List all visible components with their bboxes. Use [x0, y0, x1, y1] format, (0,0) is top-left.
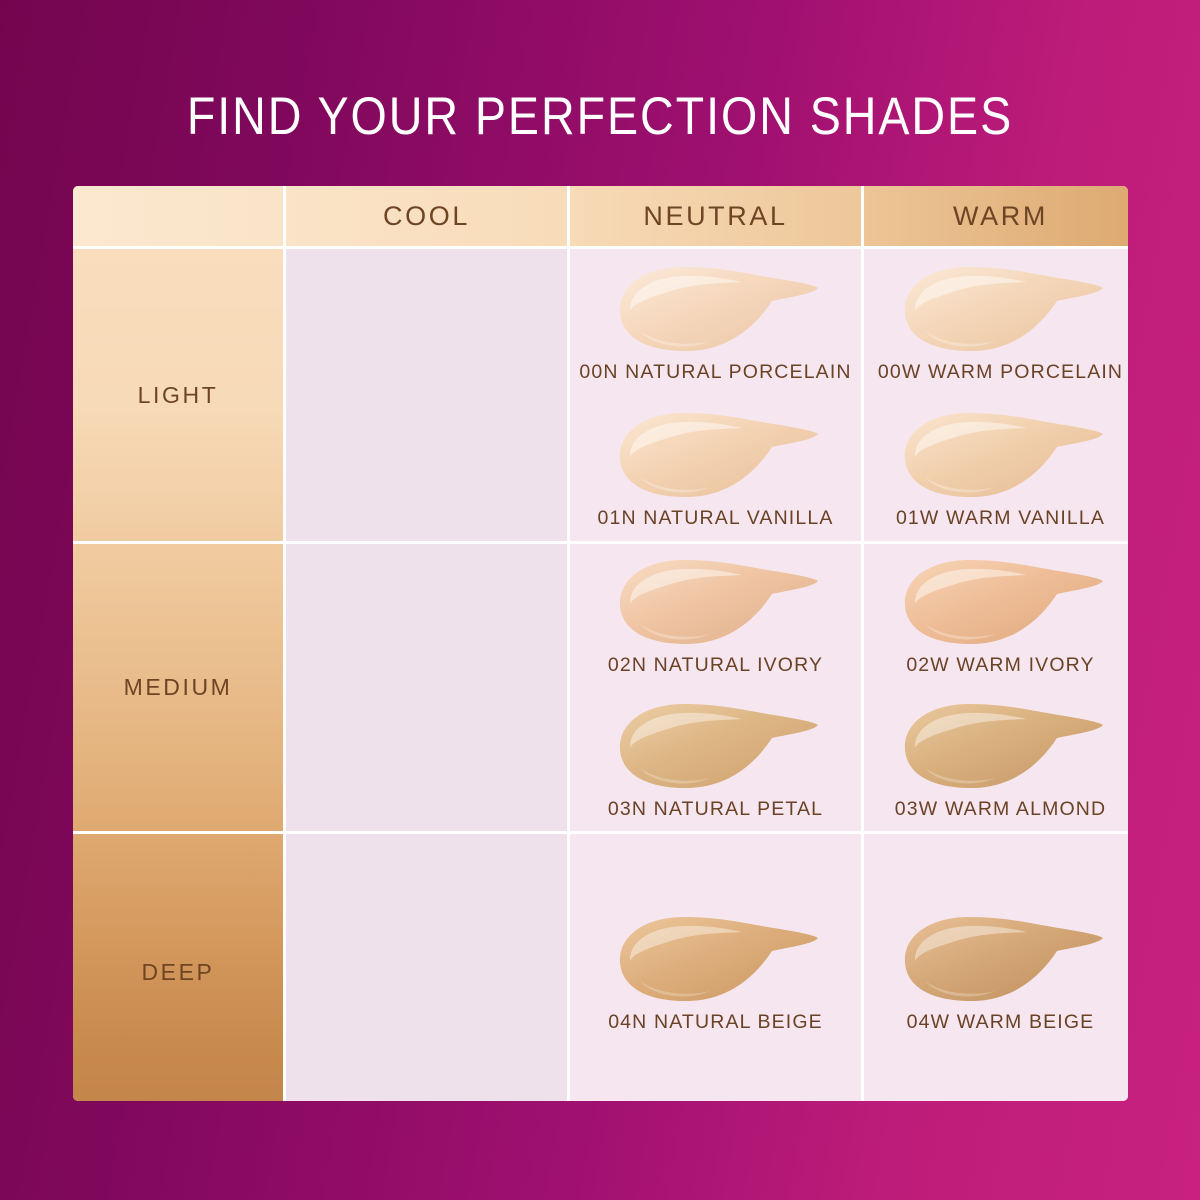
cell-light-cool — [286, 249, 567, 541]
swatch-smear-icon — [612, 554, 820, 650]
cell-medium-warm: 02W WARM IVORY 03W WARM ALMOND — [864, 544, 1128, 831]
shade-label: 03N NATURAL PETAL — [608, 798, 823, 821]
column-header-cool: COOL — [286, 186, 567, 246]
shade-label: 04N NATURAL BEIGE — [608, 1011, 823, 1034]
cell-light-neutral: 00N NATURAL PORCELAIN 01N NATURAL VANILL… — [570, 249, 861, 541]
shade-00N[interactable]: 00N NATURAL PORCELAIN — [570, 249, 861, 395]
swatch-smear-icon — [897, 261, 1105, 357]
shade-label: 02N NATURAL IVORY — [608, 654, 823, 677]
row-header-light: LIGHT — [73, 249, 283, 541]
table-corner-cell — [73, 186, 283, 246]
row-header-medium: MEDIUM — [73, 544, 283, 831]
cell-light-warm: 00W WARM PORCELAIN 01W WARM VANILLA — [864, 249, 1128, 541]
shade-00W[interactable]: 00W WARM PORCELAIN — [864, 249, 1128, 395]
shade-label: 02W WARM IVORY — [906, 654, 1094, 677]
shade-label: 04W WARM BEIGE — [907, 1011, 1095, 1034]
shade-03W[interactable]: 03W WARM ALMOND — [864, 688, 1128, 832]
page-title: FIND YOUR PERFECTION SHADES — [72, 86, 1128, 147]
shade-04N[interactable]: 04N NATURAL BEIGE — [570, 834, 861, 1101]
shade-label: 00W WARM PORCELAIN — [878, 361, 1123, 384]
swatch-smear-icon — [897, 911, 1105, 1007]
swatch-smear-icon — [612, 911, 820, 1007]
row-header-deep-label: DEEP — [141, 959, 214, 986]
shade-label: 01W WARM VANILLA — [896, 507, 1105, 530]
shade-03N[interactable]: 03N NATURAL PETAL — [570, 688, 861, 832]
shade-label: 03W WARM ALMOND — [895, 798, 1107, 821]
row-header-light-label: LIGHT — [138, 382, 219, 409]
shade-01N[interactable]: 01N NATURAL VANILLA — [570, 395, 861, 541]
cell-deep-warm: 04W WARM BEIGE — [864, 834, 1128, 1101]
shade-04W[interactable]: 04W WARM BEIGE — [864, 834, 1128, 1101]
cell-medium-cool — [286, 544, 567, 831]
column-header-warm: WARM — [864, 186, 1128, 246]
shade-finder-table: COOL NEUTRAL WARM LIGHT 00N NATURAL P — [73, 186, 1128, 1101]
shade-02N[interactable]: 02N NATURAL IVORY — [570, 544, 861, 688]
shade-01W[interactable]: 01W WARM VANILLA — [864, 395, 1128, 541]
shade-label: 00N NATURAL PORCELAIN — [579, 361, 851, 384]
shade-label: 01N NATURAL VANILLA — [597, 507, 833, 530]
swatch-smear-icon — [897, 407, 1105, 503]
cell-deep-neutral: 04N NATURAL BEIGE — [570, 834, 861, 1101]
shade-02W[interactable]: 02W WARM IVORY — [864, 544, 1128, 688]
swatch-smear-icon — [612, 261, 820, 357]
cell-medium-neutral: 02N NATURAL IVORY 03N NATURAL PETAL — [570, 544, 861, 831]
column-header-neutral: NEUTRAL — [570, 186, 861, 246]
cell-deep-cool — [286, 834, 567, 1101]
row-header-deep: DEEP — [73, 834, 283, 1101]
row-header-medium-label: MEDIUM — [124, 674, 233, 701]
swatch-smear-icon — [612, 407, 820, 503]
swatch-smear-icon — [612, 698, 820, 794]
swatch-smear-icon — [897, 698, 1105, 794]
swatch-smear-icon — [897, 554, 1105, 650]
